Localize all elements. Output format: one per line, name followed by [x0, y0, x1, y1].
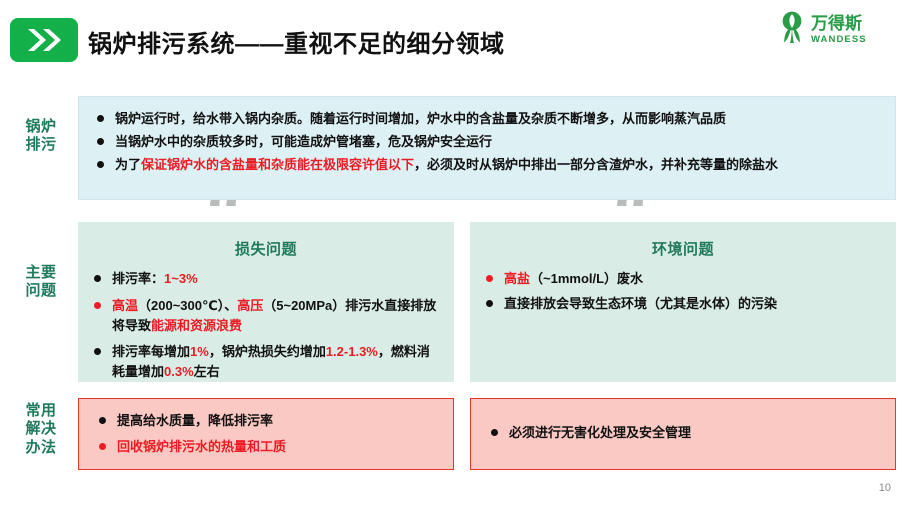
list-item: 回收锅炉排污水的热量和工质 [93, 437, 439, 457]
list-item: 排污率：1~3% [88, 269, 440, 289]
boiler-blowdown-panel: 锅炉运行时，给水带入锅内杂质。随着运行时间增加，炉水中的含盐量及杂质不断增多，从… [78, 96, 896, 200]
bullet-text-span: 必须进行无害化处理及安全管理 [509, 425, 691, 440]
bullet-text-span: 左右 [194, 364, 220, 379]
wandess-leaf-logo-icon [777, 11, 807, 50]
bullet-text-span: 能源和资源浪费 [151, 318, 242, 333]
bullet-text-span: ，必须及时从锅炉中排出一部分含渣炉水，并补充等量的除盐水 [414, 157, 778, 172]
bullet-text-span: 1.2-1.3% [326, 344, 378, 359]
environment-problems-panel: 环境问题 高盐（~1mmol/L）废水直接排放会导致生态环境（尤其是水体）的污染 [470, 222, 896, 382]
row-label-common-solutions: 常用解决办法 [8, 402, 74, 457]
row-label-main-problems: 主要问题 [8, 264, 74, 301]
slide-canvas: 锅炉排污系统——重视不足的细分领域 万得斯 WANDESS “ “ 锅炉排污 主… [0, 0, 905, 512]
panel-heading: 环境问题 [470, 238, 896, 259]
bullet-list: 高盐（~1mmol/L）废水直接排放会导致生态环境（尤其是水体）的污染 [470, 269, 896, 314]
bullet-text-span: 排污率每增加 [112, 344, 190, 359]
bullet-text-span: 保证锅炉水的含盐量和杂质能在极限容许值以下 [141, 157, 414, 172]
page-title: 锅炉排污系统——重视不足的细分领域 [88, 24, 505, 59]
list-item: 提高给水质量，降低排污率 [93, 411, 439, 431]
list-item: 高温（200~300℃）、高压（5~20MPa）排污水直接排放将导致能源和资源浪… [88, 296, 440, 336]
bullet-text-span: 1% [190, 344, 209, 359]
bullet-list: 排污率：1~3%高温（200~300℃）、高压（5~20MPa）排污水直接排放将… [78, 269, 454, 382]
list-item: 必须进行无害化处理及安全管理 [485, 423, 881, 443]
double-chevron-right-icon [10, 18, 78, 62]
solutions-left-panel: 提高给水质量，降低排污率回收锅炉排污水的热量和工质 [78, 398, 454, 470]
bullet-text-span: 1~3% [164, 271, 198, 286]
logo-name-cn: 万得斯 [811, 15, 862, 32]
bullet-text-span: 为了 [115, 157, 141, 172]
list-item: 锅炉运行时，给水带入锅内杂质。随着运行时间增加，炉水中的含盐量及杂质不断增多，从… [91, 109, 881, 129]
bullet-text-span: 0.3% [164, 364, 194, 379]
bullet-list: 提高给水质量，降低排污率回收锅炉排污水的热量和工质 [79, 399, 453, 457]
loss-problems-panel: 损失问题 排污率：1~3%高温（200~300℃）、高压（5~20MPa）排污水… [78, 222, 454, 382]
panel-heading: 损失问题 [78, 238, 454, 259]
logo-name-en: WANDESS [811, 35, 867, 45]
bullet-list: 必须进行无害化处理及安全管理 [471, 399, 895, 443]
bullet-text-span: 锅炉运行时，给水带入锅内杂质。随着运行时间增加，炉水中的含盐量及杂质不断增多，从… [115, 111, 726, 126]
slide-header: 锅炉排污系统——重视不足的细分领域 万得斯 WANDESS [0, 0, 905, 78]
bullet-text-span: 当锅炉水中的杂质较多时，可能造成炉管堵塞，危及锅炉安全运行 [115, 134, 492, 149]
bullet-text-span: （~1mmol/L）废水 [530, 271, 643, 286]
bullet-text-span: （200~300℃）、 [138, 298, 237, 313]
logo-wordmark: 万得斯 WANDESS [811, 15, 867, 45]
solutions-right-panel: 必须进行无害化处理及安全管理 [470, 398, 896, 470]
list-item: 为了保证锅炉水的含盐量和杂质能在极限容许值以下，必须及时从锅炉中排出一部分含渣炉… [91, 155, 881, 175]
bullet-text-span: 高压 [237, 298, 263, 313]
bullet-text-span: 高温 [112, 298, 138, 313]
row-label-boiler-blowdown: 锅炉排污 [8, 118, 74, 155]
list-item: 排污率每增加1%，锅炉热损失约增加1.2-1.3%，燃料消耗量增加0.3%左右 [88, 342, 440, 382]
list-item: 高盐（~1mmol/L）废水 [480, 269, 882, 289]
bullet-text-span: 直接排放会导致生态环境（尤其是水体）的污染 [504, 296, 777, 311]
list-item: 当锅炉水中的杂质较多时，可能造成炉管堵塞，危及锅炉安全运行 [91, 132, 881, 152]
bullet-text-span: 排污率： [112, 271, 164, 286]
bullet-text-span: 提高给水质量，降低排污率 [117, 413, 273, 428]
bullet-text-span: 高盐 [504, 271, 530, 286]
bullet-text-span: 回收锅炉排污水的热量和工质 [117, 439, 286, 454]
company-logo: 万得斯 WANDESS [777, 8, 895, 52]
bullet-text-span: ，锅炉热损失约增加 [209, 344, 326, 359]
page-number: 10 [879, 482, 891, 494]
bullet-list: 锅炉运行时，给水带入锅内杂质。随着运行时间增加，炉水中的含盐量及杂质不断增多，从… [79, 97, 895, 174]
list-item: 直接排放会导致生态环境（尤其是水体）的污染 [480, 294, 882, 314]
